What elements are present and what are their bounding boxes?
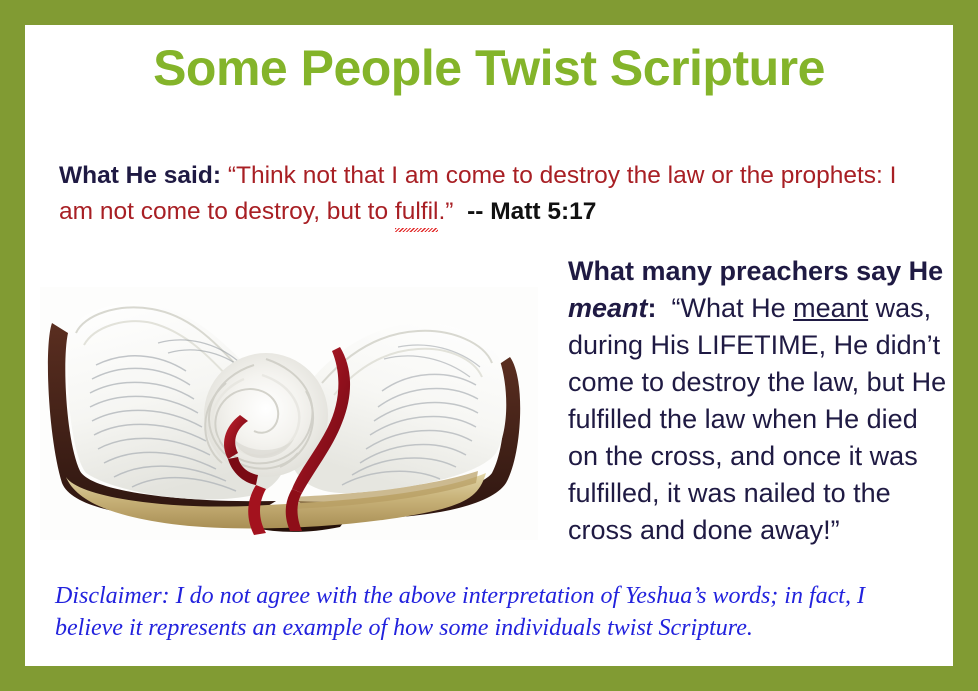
quote-space bbox=[221, 162, 228, 189]
preacher-underlined-word: meant bbox=[793, 293, 868, 323]
preacher-lead-colon: : bbox=[648, 293, 657, 323]
twisted-bible-image bbox=[40, 287, 538, 540]
preacher-close-quote: ” bbox=[831, 515, 840, 545]
misspelled-word: fulfil bbox=[395, 194, 439, 230]
preacher-body-part1: What He bbox=[681, 293, 794, 323]
quote-gap bbox=[453, 198, 467, 225]
disclaimer-text: Disclaimer: I do not agree with the abov… bbox=[55, 580, 935, 644]
quote-label: What He said: bbox=[59, 162, 221, 189]
preacher-gap bbox=[657, 293, 672, 323]
scripture-reference: -- Matt 5:17 bbox=[467, 198, 596, 225]
preacher-interpretation: What many preachers say He meant: “What … bbox=[568, 253, 953, 549]
slide-frame: Some People Twist Scripture What He said… bbox=[0, 0, 978, 691]
quote-open-quote: “ bbox=[228, 162, 236, 189]
preacher-lead-part1: What many preachers say He bbox=[568, 256, 943, 286]
preacher-open-quote: “ bbox=[672, 293, 681, 323]
slide-canvas: Some People Twist Scripture What He said… bbox=[25, 25, 953, 666]
page-title: Some People Twist Scripture bbox=[25, 39, 953, 97]
twisted-bible-illustration bbox=[40, 287, 538, 540]
preacher-lead-emphasis: meant bbox=[568, 293, 648, 323]
scripture-quote: What He said: “Think not that I am come … bbox=[59, 158, 915, 230]
preacher-body-part2: was, during His LIFETIME, He didn’t come… bbox=[568, 293, 946, 545]
